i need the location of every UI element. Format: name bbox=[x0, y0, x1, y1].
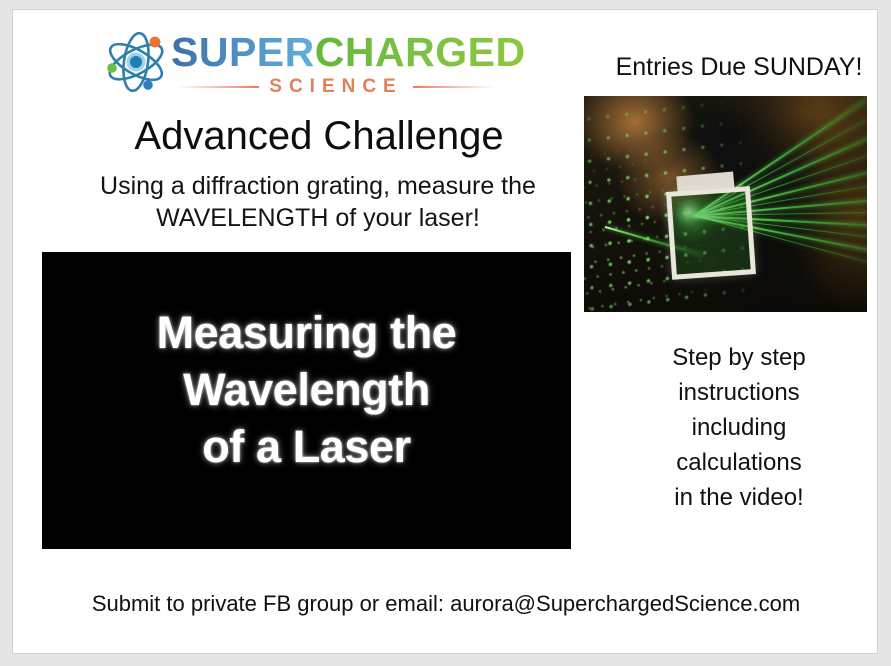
photo-diffraction-grating bbox=[666, 186, 755, 279]
video-title-line-1: Measuring the bbox=[42, 304, 571, 361]
side-caption-line-2: instructions bbox=[601, 375, 877, 410]
video-title: Measuring the Wavelength of a Laser bbox=[42, 304, 571, 475]
side-caption-line-1: Step by step bbox=[601, 340, 877, 375]
side-caption: Step by step instructions including calc… bbox=[601, 340, 877, 515]
subtitle-line-2: WAVELENGTH of your laser! bbox=[43, 202, 593, 234]
logo-word-super: SUPER bbox=[171, 29, 315, 75]
side-caption-line-4: calculations bbox=[601, 445, 877, 480]
logo-wordmark-top: SUPERCHARGED bbox=[171, 30, 526, 74]
subtitle-line-1: Using a diffraction grating, measure the bbox=[43, 170, 593, 202]
logo-wordmark: SUPERCHARGED SCIENCE bbox=[171, 30, 501, 100]
video-title-line-2: Wavelength bbox=[42, 361, 571, 418]
submission-instructions: Submit to private FB group or email: aur… bbox=[53, 591, 839, 617]
entries-due-note: Entries Due SUNDAY! bbox=[601, 53, 877, 82]
logo-word-science: SCIENCE bbox=[269, 76, 402, 98]
side-caption-line-3: including bbox=[601, 410, 877, 445]
video-thumbnail[interactable]: Measuring the Wavelength of a Laser bbox=[42, 252, 571, 549]
atom-icon bbox=[101, 28, 171, 96]
page-title: Advanced Challenge bbox=[49, 110, 589, 162]
side-caption-line-5: in the video! bbox=[601, 480, 877, 515]
logo-word-charged: CHARGED bbox=[315, 29, 526, 75]
supercharged-science-logo: SUPERCHARGED SCIENCE bbox=[93, 22, 513, 102]
slide-frame: SUPERCHARGED SCIENCE Advanced Challenge … bbox=[0, 0, 891, 666]
science-rule-right bbox=[413, 86, 495, 88]
slide-card: SUPERCHARGED SCIENCE Advanced Challenge … bbox=[12, 9, 878, 654]
logo-science-row: SCIENCE bbox=[177, 76, 495, 98]
science-rule-left bbox=[177, 86, 259, 88]
page-subtitle: Using a diffraction grating, measure the… bbox=[43, 170, 593, 234]
laser-diffraction-photo bbox=[584, 96, 867, 312]
video-title-line-3: of a Laser bbox=[42, 418, 571, 475]
